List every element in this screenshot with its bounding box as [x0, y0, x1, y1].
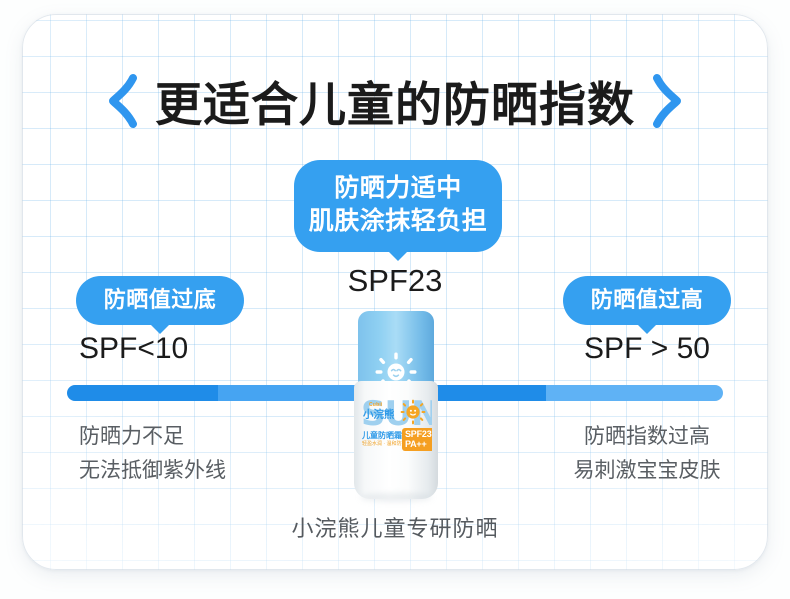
right-description: 防晒指数过高 易刺激宝宝皮肤 — [556, 420, 738, 488]
right-description-line1: 防晒指数过高 — [556, 420, 738, 454]
right-spf-value: SPF > 50 — [563, 332, 731, 366]
page-title-text: 更适合儿童的防晒指数 — [155, 66, 635, 135]
angle-left-icon — [107, 72, 137, 130]
label-sub-cn2: 轻盈水润 · 温和防护 — [362, 441, 406, 447]
label-sub-cn: 儿童防晒霜 — [362, 431, 402, 440]
center-badge: 防晒力适中 肌肤涂抹轻负担 — [294, 160, 502, 252]
page-title: 更适合儿童的防晒指数 — [22, 66, 768, 135]
right-description-line2: 易刺激宝宝皮肤 — [556, 454, 738, 488]
left-description-line1: 防晒力不足 — [79, 420, 226, 454]
sun-burst-icon — [400, 399, 426, 425]
spf-chip-line1: SPF23 — [405, 429, 432, 439]
product-bottle: SUN Cubii 小浣熊 儿童防晒霜 轻盈水润 · 温和防护 — [354, 311, 438, 499]
center-badge-tail — [387, 250, 409, 261]
label-brand-en: Cubii — [369, 402, 383, 408]
center-badge-line2: 肌肤涂抹轻负担 — [294, 205, 502, 238]
label-brand-cn: 小浣熊 — [363, 410, 394, 420]
angle-right-icon — [653, 72, 683, 130]
spf-chip: SPF23 PA++ — [402, 428, 432, 451]
left-spf-value: SPF<10 — [79, 332, 188, 366]
center-badge-line1: 防晒力适中 — [294, 172, 502, 205]
center-spf-value: SPF23 — [22, 263, 768, 299]
bottle-label: SUN Cubii 小浣熊 儿童防晒霜 轻盈水润 · 温和防护 — [360, 395, 432, 453]
bottle-shadow — [360, 493, 432, 502]
content-card: 更适合儿童的防晒指数 防晒力适中 肌肤涂抹轻负担 防晒值过底 防晒值过高 SPF… — [22, 14, 768, 570]
left-description-line2: 无法抵御紫外线 — [79, 454, 226, 488]
spf-chip-line2: PA++ — [405, 439, 432, 449]
product-caption: 小浣熊儿童专研防晒 — [22, 511, 768, 543]
infographic-page: 更适合儿童的防晒指数 防晒力适中 肌肤涂抹轻负担 防晒值过底 防晒值过高 SPF… — [0, 0, 790, 599]
left-description: 防晒力不足 无法抵御紫外线 — [79, 420, 226, 488]
